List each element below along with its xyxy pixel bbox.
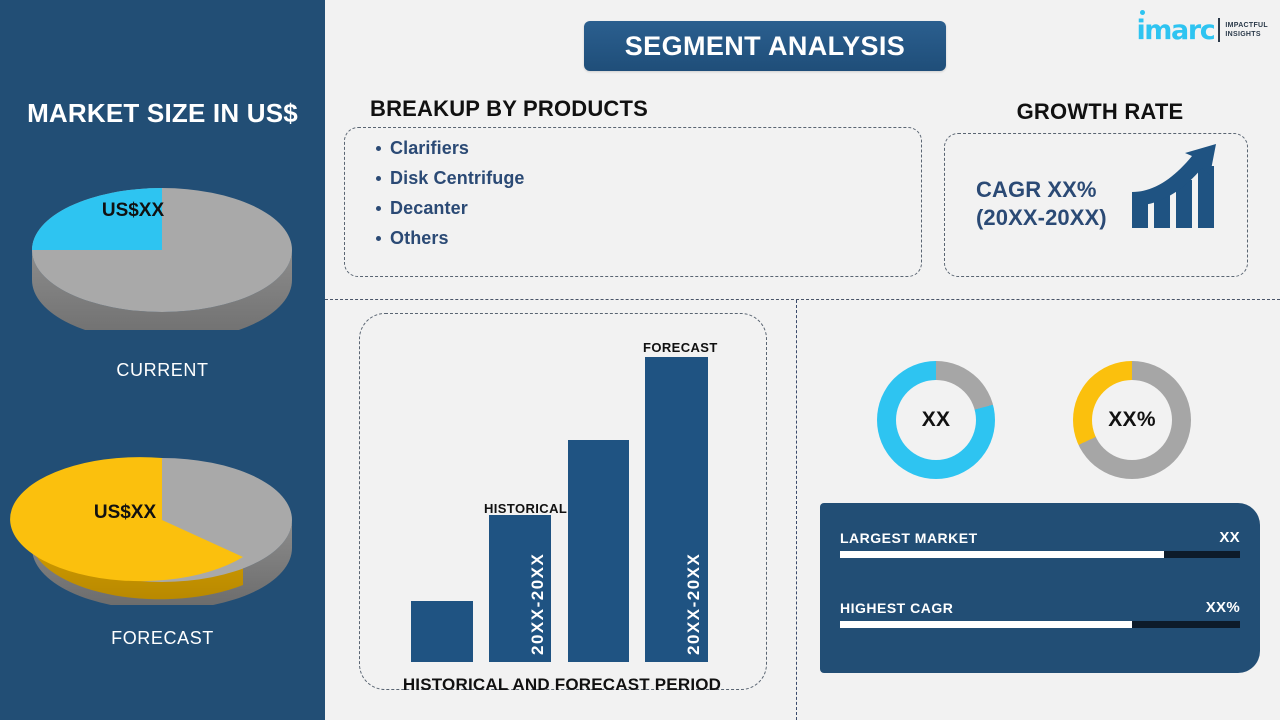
stat-label: HIGHEST CAGR (840, 600, 953, 616)
donut-1-hole: XX (896, 380, 976, 460)
product-label: Disk Centrifuge (390, 168, 525, 189)
donut-1-label: XX (922, 408, 951, 432)
stat-value: XX (1219, 529, 1240, 546)
stat-progress-fill (840, 621, 1132, 628)
period-axis-label: HISTORICAL AND FORECAST PERIOD (359, 675, 765, 695)
logo-wordmark: imarc (1136, 17, 1214, 44)
pie-forecast-value-label: US$XX (60, 502, 190, 524)
stat-header: HIGHEST CAGR XX% (840, 599, 1240, 616)
stat-label: LARGEST MARKET (840, 530, 978, 546)
stat-progress-fill (840, 551, 1164, 558)
vertical-divider (796, 300, 797, 720)
page-title: SEGMENT ANALYSIS (625, 31, 905, 62)
sidebar-market-size: MARKET SIZE IN US$ US$XX CURRENT (0, 0, 325, 720)
pie-chart-current: US$XX (0, 170, 325, 335)
sidebar-title: MARKET SIZE IN US$ (0, 98, 325, 129)
pie-current-svg (0, 170, 325, 330)
imarc-logo: imarc IMPACTFUL INSIGHTS (1136, 14, 1268, 46)
growth-arrow-bars-icon (1130, 142, 1225, 232)
products-heading: BREAKUP BY PRODUCTS (370, 96, 648, 122)
list-item: Clarifiers (376, 138, 525, 159)
stat-header: LARGEST MARKET XX (840, 529, 1240, 546)
infographic-canvas: MARKET SIZE IN US$ US$XX CURRENT (0, 0, 1280, 720)
stat-progress-track (840, 621, 1240, 628)
product-label: Clarifiers (390, 138, 469, 159)
pie-current-caption: CURRENT (0, 360, 325, 381)
product-label: Others (390, 228, 449, 249)
pie-forecast-caption: FORECAST (0, 628, 325, 649)
list-item: Disk Centrifuge (376, 168, 525, 189)
stat-row-largest-market: LARGEST MARKET XX (840, 529, 1240, 558)
pie-chart-forecast: US$XX (0, 440, 325, 610)
list-item: Others (376, 228, 525, 249)
stat-progress-track (840, 551, 1240, 558)
products-list: Clarifiers Disk Centrifuge Decanter Othe… (376, 138, 525, 258)
donut-2-hole: XX% (1092, 380, 1172, 460)
market-indicators-panel: LARGEST MARKET XX HIGHEST CAGR XX% (820, 503, 1260, 673)
bullet-icon (376, 146, 381, 151)
cagr-line1: CAGR XX% (976, 176, 1107, 204)
page-title-pill: SEGMENT ANALYSIS (584, 21, 946, 71)
bar-1 (411, 601, 473, 662)
logo-tagline-line2: INSIGHTS (1225, 30, 1268, 39)
list-item: Decanter (376, 198, 525, 219)
donut-chart-1: XX (877, 361, 995, 479)
horizontal-divider (325, 299, 1280, 300)
growth-heading: GROWTH RATE (940, 99, 1260, 125)
product-label: Decanter (390, 198, 468, 219)
stat-value: XX% (1206, 599, 1240, 616)
historical-tag: HISTORICAL (484, 501, 567, 516)
bullet-icon (376, 236, 381, 241)
bar-4-caption: 20XX-20XX (684, 553, 704, 655)
bullet-icon (376, 176, 381, 181)
logo-divider-icon (1218, 18, 1220, 42)
bar-2-caption: 20XX-20XX (528, 553, 548, 655)
forecast-tag: FORECAST (643, 340, 718, 355)
donut-2-label: XX% (1108, 408, 1156, 432)
bullet-icon (376, 206, 381, 211)
donut-chart-2: XX% (1073, 361, 1191, 479)
stat-row-highest-cagr: HIGHEST CAGR XX% (840, 599, 1240, 628)
logo-tagline-line1: IMPACTFUL (1225, 21, 1268, 30)
logo-tagline: IMPACTFUL INSIGHTS (1225, 21, 1268, 40)
cagr-line2: (20XX-20XX) (976, 204, 1107, 232)
cagr-text: CAGR XX% (20XX-20XX) (976, 176, 1107, 232)
bar-3 (568, 440, 629, 662)
pie-current-value-label: US$XX (68, 200, 198, 222)
logo-word-text: imarc (1136, 15, 1214, 46)
